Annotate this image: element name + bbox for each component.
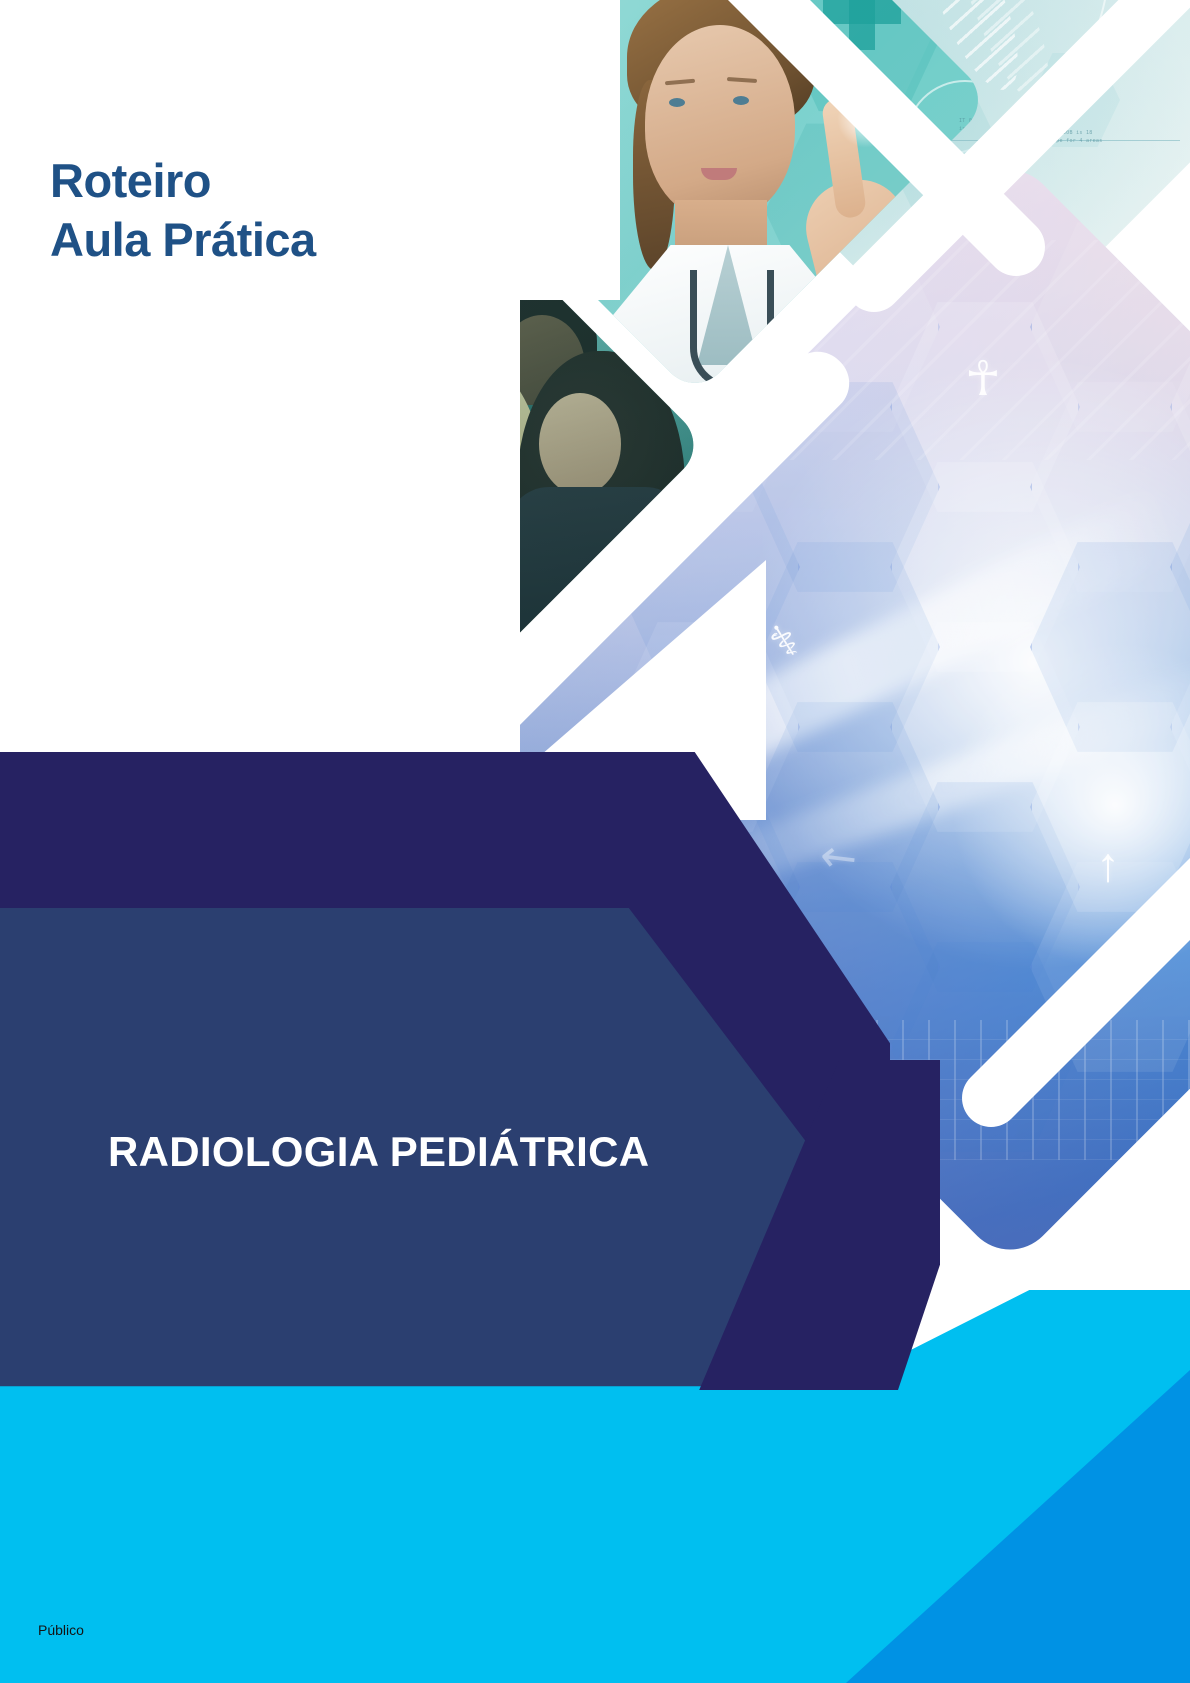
doctor-eye-left [669, 98, 685, 107]
stethoscope-icon [690, 270, 774, 390]
doctor-face [645, 25, 795, 220]
doctor-eye-right [733, 96, 749, 105]
arrow-up-icon: ↑ [1096, 842, 1120, 890]
cover-page: AB 10234 :: 88 AA 01230 AB IT SYSNO is 1… [0, 0, 1190, 1683]
page-title: Roteiro Aula Prática [50, 152, 316, 270]
classification-label: Público [38, 1622, 84, 1638]
subject-title: RADIOLOGIA PEDIÁTRICA [108, 1128, 649, 1176]
